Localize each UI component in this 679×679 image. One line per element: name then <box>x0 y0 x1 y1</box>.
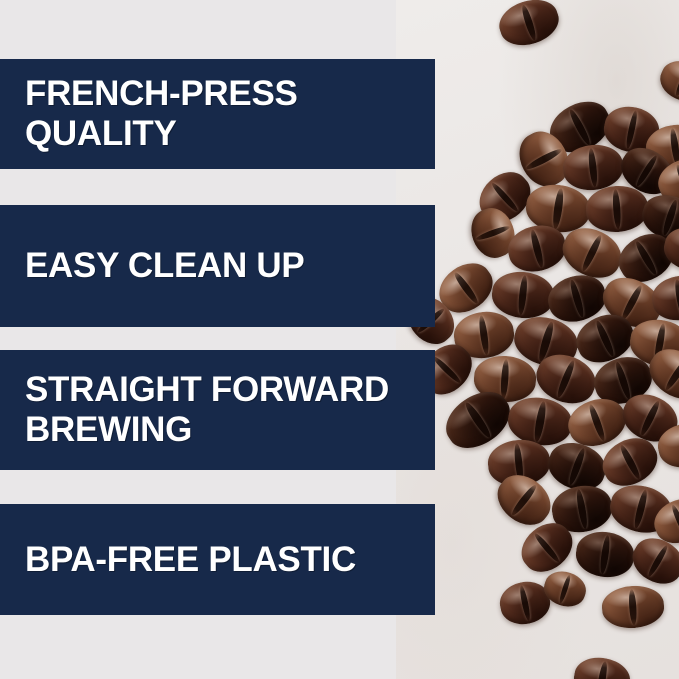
feature-bar-easy-clean-up: EASY CLEAN UP <box>0 205 435 327</box>
feature-bar-bpa-free-plastic: BPA-FREE PLASTIC <box>0 504 435 615</box>
feature-label: STRAIGHT FORWARD BREWING <box>25 370 421 450</box>
feature-label: BPA-FREE PLASTIC <box>25 540 421 580</box>
feature-label: FRENCH-PRESS QUALITY <box>25 74 421 154</box>
product-feature-graphic: FRENCH-PRESS QUALITY EASY CLEAN UP STRAI… <box>0 0 679 679</box>
coffee-bean-photo <box>396 0 679 679</box>
feature-bar-french-press-quality: FRENCH-PRESS QUALITY <box>0 59 435 169</box>
feature-bar-straight-forward-brewing: STRAIGHT FORWARD BREWING <box>0 350 435 470</box>
feature-label: EASY CLEAN UP <box>25 246 421 286</box>
